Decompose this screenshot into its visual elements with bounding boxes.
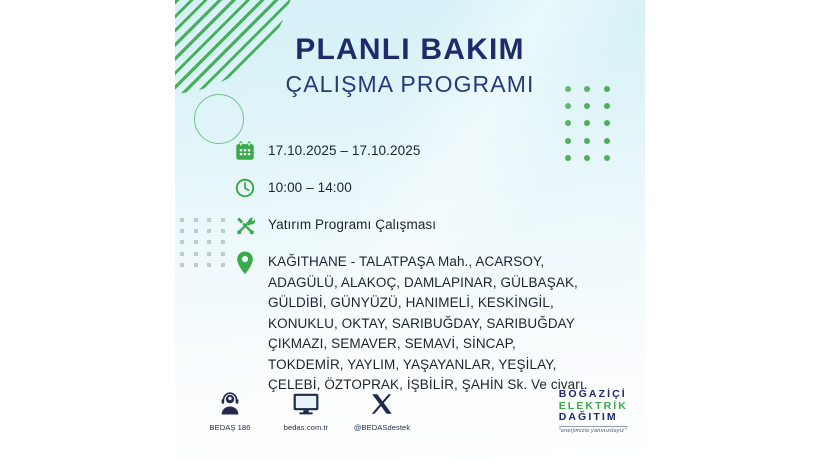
notice-details: 17.10.2025 – 17.10.2025 10:00 – 14:00 <box>232 138 622 407</box>
detail-row-date-text: 17.10.2025 – 17.10.2025 <box>268 138 420 160</box>
detail-row-work-type-text: Yatırım Programı Çalışması <box>268 212 436 234</box>
poster-heading: PLANLI BAKIM ÇALIŞMA PROGRAMI <box>175 34 645 98</box>
monitor-icon <box>275 389 337 419</box>
x-twitter-icon <box>351 389 413 419</box>
detail-row-time: 10:00 – 14:00 <box>232 175 622 201</box>
page-subtitle: ÇALIŞMA PROGRAMI <box>175 71 645 98</box>
logo-tagline: "enerjimizle yanınızdayız" <box>559 426 628 435</box>
contact-phone-label: BEDAŞ 186 <box>199 423 261 432</box>
detail-row-date: 17.10.2025 – 17.10.2025 <box>232 138 622 164</box>
location-pin-icon <box>232 249 258 276</box>
poster-footer: BEDAŞ 186 bedas.com.tr <box>175 385 645 451</box>
contact-website-label: bedas.com.tr <box>275 423 337 432</box>
detail-row-time-text: 10:00 – 14:00 <box>268 175 352 197</box>
contact-social-label: @BEDASdestek <box>351 423 413 432</box>
logo-line-dagitim: DAĞITIM <box>559 412 628 424</box>
call-center-agent-icon <box>199 389 261 419</box>
tools-icon <box>232 212 258 238</box>
contact-channels: BEDAŞ 186 bedas.com.tr <box>199 389 427 432</box>
contact-social[interactable]: @BEDASdestek <box>351 389 413 432</box>
bedas-logo: BOĞAZİÇİ ELEKTRİK DAĞITIM "enerjimizle y… <box>559 389 628 434</box>
clock-icon <box>232 175 258 201</box>
detail-row-work-type: Yatırım Programı Çalışması <box>232 212 622 238</box>
calendar-icon <box>232 138 258 164</box>
contact-phone[interactable]: BEDAŞ 186 <box>199 389 261 432</box>
contact-website[interactable]: bedas.com.tr <box>275 389 337 432</box>
detail-row-address-text: KAĞITHANE - TALATPAŞA Mah., ACARSOY, ADA… <box>268 249 588 396</box>
maintenance-notice-poster: PLANLI BAKIM ÇALIŞMA PROGRAMI <box>175 0 645 461</box>
dot-grid-decoration-left <box>180 218 234 274</box>
logo-line-bogazici: BOĞAZİÇİ <box>559 389 628 401</box>
page-title: PLANLI BAKIM <box>175 34 645 66</box>
detail-row-address: KAĞITHANE - TALATPAŞA Mah., ACARSOY, ADA… <box>232 249 622 396</box>
screenshot-root: PLANLI BAKIM ÇALIŞMA PROGRAMI <box>0 0 820 461</box>
circle-outline-decoration <box>194 94 244 144</box>
